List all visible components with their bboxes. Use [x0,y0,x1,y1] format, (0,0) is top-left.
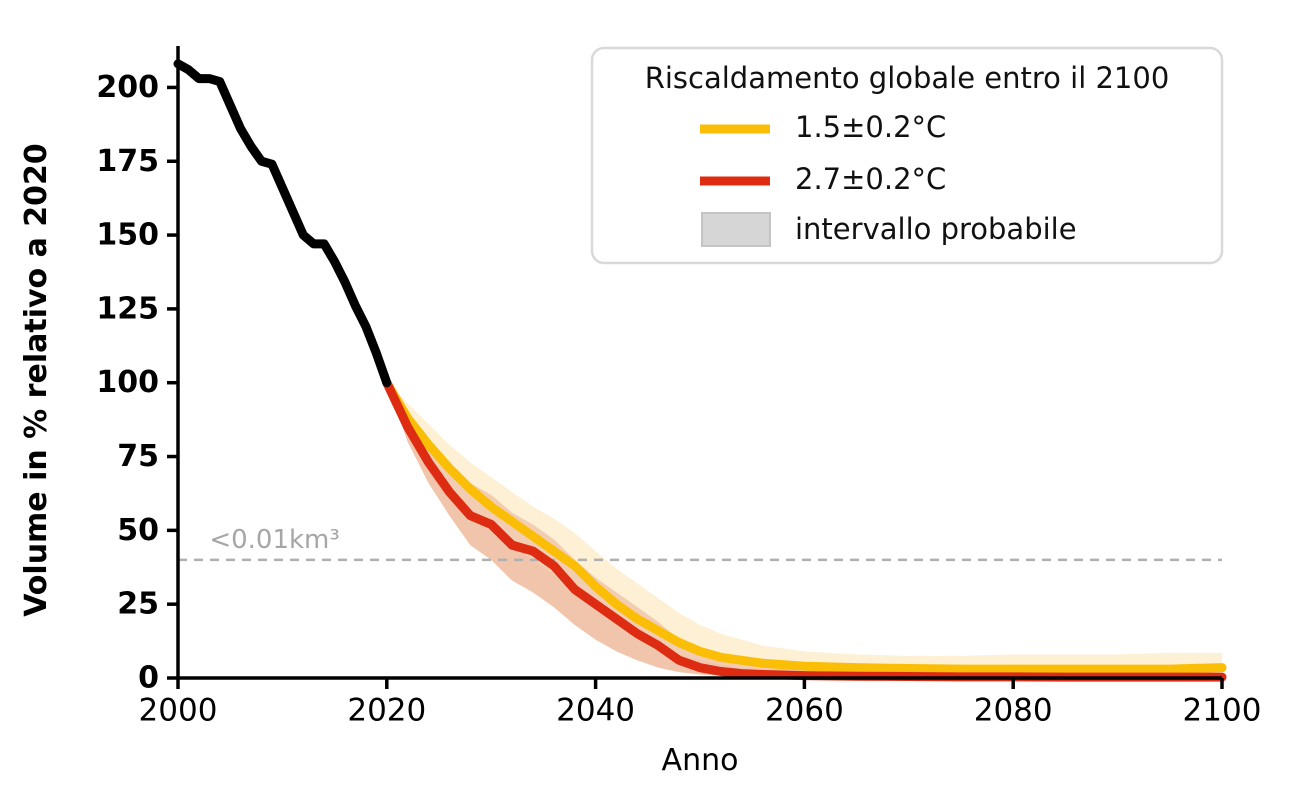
line-historical [178,64,387,383]
legend-swatch-range [702,213,770,246]
y-tick-label: 200 [96,70,159,105]
y-tick-label: 175 [96,144,159,179]
x-tick-label: 2040 [556,692,635,728]
y-tick-label: 25 [117,587,159,622]
glacier-volume-projection-chart: <0.01km³ 0255075100125150175200 20002020… [0,0,1300,800]
x-tick-label: 2000 [139,692,218,728]
x-tick-label: 2080 [974,692,1053,728]
legend-label-range[interactable]: intervallo probabile [795,212,1077,246]
y-tick-label: 75 [117,439,159,474]
y-tick-label: 125 [96,291,159,326]
threshold-line-group: <0.01km³ [178,525,1222,560]
y-tick-label: 0 [138,661,159,696]
x-tick-label: 2100 [1183,692,1262,728]
legend[interactable]: Riscaldamento globale entro il 2100 1.5±… [592,48,1222,263]
legend-label-1p5c[interactable]: 1.5±0.2°C [795,110,946,144]
figure-canvas: <0.01km³ 0255075100125150175200 20002020… [0,0,1300,800]
y-axis-ticks: 0255075100125150175200 [96,70,178,696]
x-tick-label: 2020 [347,692,426,728]
chart-figure: <0.01km³ 0255075100125150175200 20002020… [0,0,1300,800]
band-2p7c-overlay [387,383,1222,678]
y-tick-label: 100 [96,365,159,400]
y-tick-label: 150 [96,218,159,253]
x-tick-label: 2060 [765,692,844,728]
line-1p5c [387,383,1222,669]
confidence-bands [387,383,1222,678]
y-axis-title: Volume in % relativo a 2020 [19,143,54,617]
y-tick-label: 50 [117,513,159,548]
legend-title: Riscaldamento globale entro il 2100 [645,61,1170,95]
legend-label-2p7c[interactable]: 2.7±0.2°C [795,162,946,196]
threshold-annotation-label: <0.01km³ [209,525,339,555]
x-axis-ticks: 200020202040206020802100 [139,678,1262,728]
x-axis-title: Anno [662,743,739,778]
